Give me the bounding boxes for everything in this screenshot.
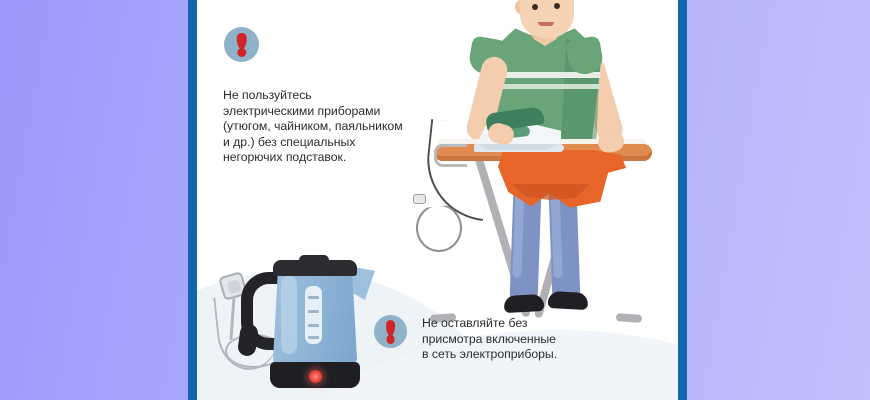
man-ironing-illustration	[412, 0, 677, 318]
shoe-left	[504, 294, 545, 313]
shoe-right	[548, 291, 589, 310]
poster-stage: Не пользуйтесь электрическими приборами …	[0, 0, 870, 400]
exclamation-dot	[237, 48, 246, 57]
kettle-water-gauge	[305, 286, 322, 344]
accent-stripe-left	[188, 0, 197, 400]
kettle-highlight	[281, 276, 297, 354]
exclamation-stem	[386, 320, 396, 336]
poster-card: Не пользуйтесь электрическими приборами …	[197, 0, 678, 400]
exclamation-stem	[236, 33, 247, 49]
warning-text-2: Не оставляйте без присмотра включенные в…	[422, 316, 632, 363]
accent-stripe-right	[678, 0, 687, 400]
iron-plug	[413, 194, 426, 204]
exclamation-circle-icon-2	[374, 315, 407, 348]
electric-kettle-illustration	[215, 250, 395, 400]
eye-right	[554, 3, 560, 9]
iron-cord-loop	[416, 204, 462, 252]
eye-left	[532, 4, 538, 10]
kettle-lid	[273, 260, 357, 276]
exclamation-circle-icon-1	[224, 27, 259, 62]
mouth	[538, 22, 554, 26]
exclamation-dot	[386, 335, 395, 344]
shirt-stripe-lower	[490, 84, 600, 89]
kettle-power-indicator-light	[309, 370, 322, 383]
